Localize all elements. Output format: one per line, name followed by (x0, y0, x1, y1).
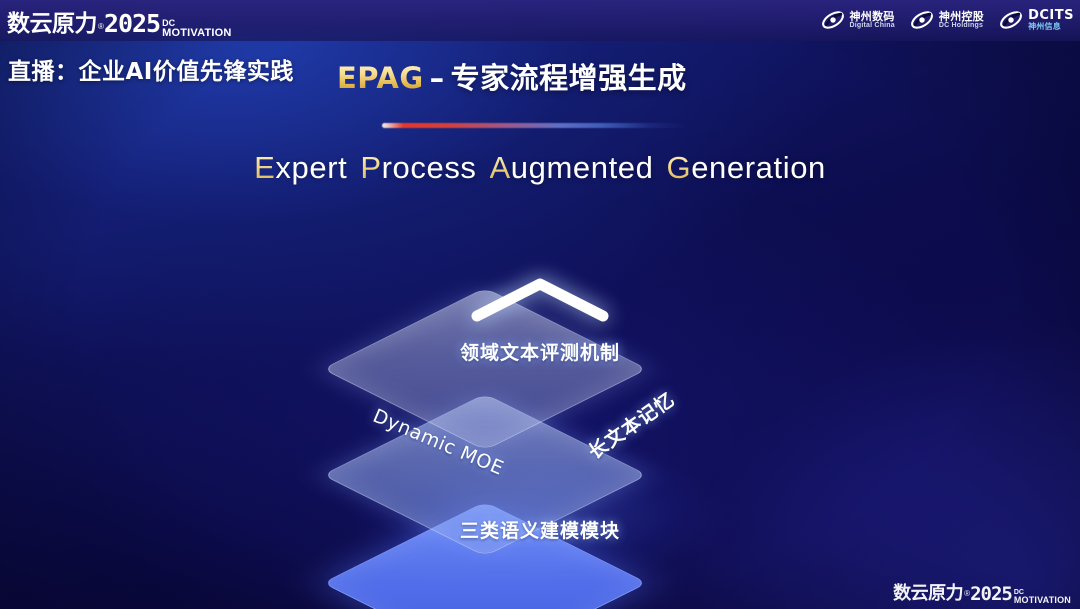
partner-name-cn: 神州控股 (939, 11, 984, 23)
layered-architecture-diagram: 领域文本评测机制 Dynamic MOE 长文本记忆 三类语义建模模块 (292, 228, 788, 588)
title-dash: – (430, 61, 445, 95)
swoosh-icon (820, 7, 846, 33)
partner-logo-dc-holdings: 神州控股 DC Holdings (909, 7, 984, 33)
title-acronym: EPAG (337, 61, 424, 95)
title-chinese: 专家流程增强生成 (451, 61, 687, 95)
brand-motivation-label: MOTIVATION (162, 28, 231, 38)
brand-year: 2025 (970, 583, 1012, 605)
partner-name-en: Digital China (850, 22, 895, 29)
partner-logo-dcits: DCITS 神州信息 (998, 7, 1074, 33)
layer-label-long-text-memory: 长文本记忆 (582, 385, 679, 464)
layer-label-bottom: 三类语义建模模块 (292, 516, 788, 543)
swoosh-icon (998, 7, 1024, 33)
subtitle-word-generation: Generation (666, 150, 825, 185)
brand-motivation-label: MOTIVATION (1014, 596, 1071, 605)
page-title: EPAG–专家流程增强生成 (337, 55, 687, 97)
brand-logo-watermark: 数云原力 ® 2025 DC MOTIVATION (893, 579, 1071, 605)
brand-name-cn: 数云原力 (7, 4, 97, 38)
brand-name-cn: 数云原力 (893, 579, 963, 605)
layer-label-top: 领域文本评测机制 (292, 338, 788, 365)
partner-name-en: DCITS (1028, 9, 1074, 23)
brand-registered-mark: ® (964, 589, 970, 598)
subtitle-expansion: ExpertProcessAugmentedGeneration (0, 150, 1080, 186)
title-divider (382, 123, 687, 128)
live-stream-label: 直播：企业AI价值先锋实践 (8, 52, 294, 86)
partner-name-cn: 神州数码 (850, 11, 895, 23)
subtitle-word-augmented: Augmented (490, 150, 654, 185)
slide-stage: 数云原力 ® 2025 DC MOTIVATION 神州数码 Digital C… (0, 0, 1080, 609)
partner-logo-digital-china: 神州数码 Digital China (820, 7, 895, 33)
subtitle-word-expert: Expert (254, 150, 347, 185)
partner-logo-group: 神州数码 Digital China 神州控股 DC Holdings (820, 3, 1075, 37)
partner-name-en: DC Holdings (939, 22, 984, 29)
partner-name-cn: 神州信息 (1028, 23, 1074, 31)
brand-registered-mark: ® (98, 22, 104, 31)
brand-logo-header: 数云原力 ® 2025 DC MOTIVATION (7, 4, 232, 38)
brand-year: 2025 (104, 9, 160, 38)
swoosh-icon (909, 7, 935, 33)
subtitle-word-process: Process (360, 150, 476, 185)
